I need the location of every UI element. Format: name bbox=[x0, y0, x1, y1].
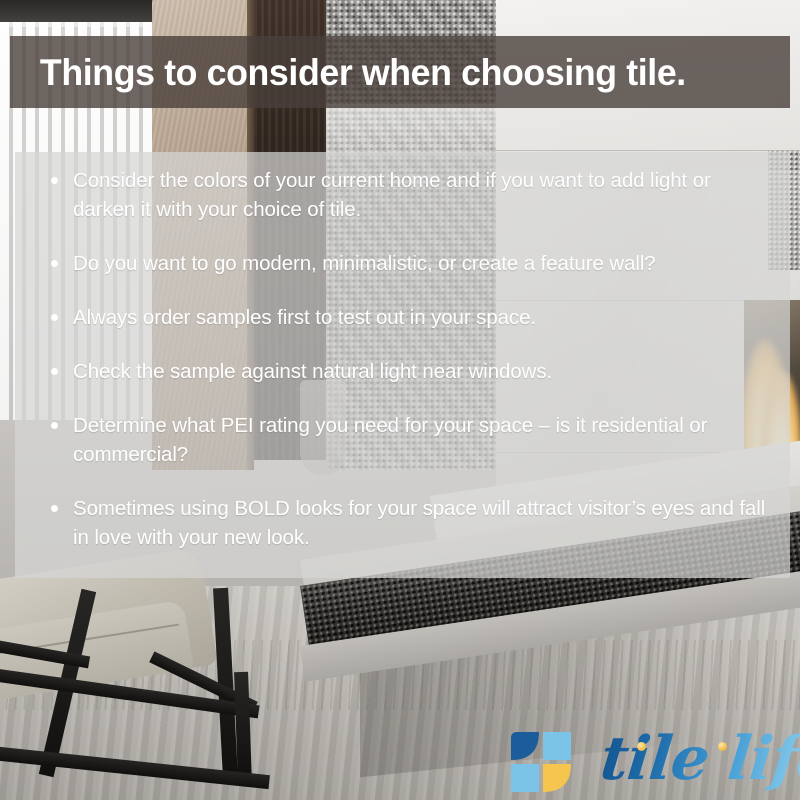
list-item: Always order samples first to test out i… bbox=[45, 303, 768, 332]
list-item: Consider the colors of your current home… bbox=[45, 166, 768, 224]
content-panel: Consider the colors of your current home… bbox=[15, 152, 790, 578]
bullet-icon bbox=[51, 177, 58, 184]
list-item-text: Consider the colors of your current home… bbox=[73, 169, 711, 221]
logo-dot-i-tile bbox=[637, 742, 646, 751]
bullet-icon bbox=[51, 422, 58, 429]
bullet-icon bbox=[51, 260, 58, 267]
mosaic-light-band bbox=[326, 104, 496, 156]
marble-seam bbox=[496, 150, 800, 151]
logo-tile-light-blue-bottom bbox=[511, 764, 539, 792]
blind-headrail bbox=[0, 0, 152, 22]
poster-title: Things to consider when choosing tile. bbox=[10, 54, 686, 91]
list-item: Sometimes using BOLD looks for your spac… bbox=[45, 494, 768, 552]
list-item: Do you want to go modern, minimalistic, … bbox=[45, 249, 768, 278]
list-item-text: Sometimes using BOLD looks for your spac… bbox=[73, 497, 765, 549]
bullet-icon bbox=[51, 314, 58, 321]
bullet-icon bbox=[51, 505, 58, 512]
list-item-text: Determine what PEI rating you need for y… bbox=[73, 414, 707, 466]
bullet-icon bbox=[51, 368, 58, 375]
logo-tile-gold bbox=[543, 764, 571, 792]
title-banner: Things to consider when choosing tile. bbox=[10, 36, 790, 108]
list-item-text: Check the sample against natural light n… bbox=[73, 360, 552, 383]
logo-tile-dark-blue bbox=[511, 732, 539, 760]
tile-life-logo[interactable]: tile life bbox=[505, 726, 793, 798]
logo-wordmark: tile life bbox=[597, 720, 800, 798]
list-item: Determine what PEI rating you need for y… bbox=[45, 411, 768, 469]
list-item-text: Always order samples first to test out i… bbox=[73, 306, 536, 329]
logo-tile-light-blue-top bbox=[543, 732, 571, 760]
list-item: Check the sample against natural light n… bbox=[45, 357, 768, 386]
logo-dot-i-life bbox=[718, 742, 727, 751]
poster-root: Things to consider when choosing tile. C… bbox=[0, 0, 800, 800]
list-item-text: Do you want to go modern, minimalistic, … bbox=[73, 252, 656, 275]
considerations-list: Consider the colors of your current home… bbox=[45, 166, 768, 552]
